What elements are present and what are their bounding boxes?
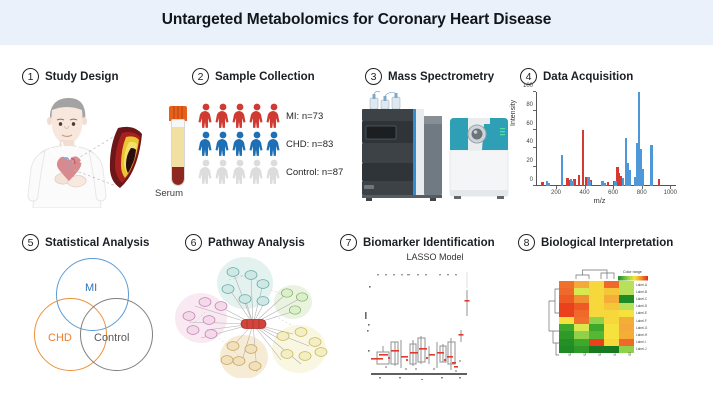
heatmap-row-label: Label-C <box>636 297 647 301</box>
heatmap-cell <box>559 339 574 346</box>
workflow-figure: Untargeted Metabolomics for Coronary Hea… <box>0 0 713 405</box>
x-tick-label: 200 <box>551 190 561 196</box>
heatmap-cell <box>574 339 589 346</box>
heatmap-cell <box>604 331 619 338</box>
lasso-plot-title: LASSO Model <box>355 252 515 262</box>
heatmap-cell <box>559 303 574 310</box>
tube-body <box>171 119 185 186</box>
x-tick-label: 1000 <box>664 190 677 196</box>
heatmap-cell <box>589 281 604 288</box>
y-axis-line <box>536 92 537 186</box>
panel-label-2: Sample Collection <box>215 71 315 83</box>
heatmap-row-label: Label-I <box>636 340 646 344</box>
heatmap-cell <box>559 281 574 288</box>
heatmap-cell <box>619 295 634 302</box>
y-axis-label: Intensity <box>510 100 517 126</box>
heatmap-cell <box>589 288 604 295</box>
cohort-row-chd: CHD: n=83 <box>198 128 343 156</box>
column-dendrogram <box>576 270 614 279</box>
panel-number-2: 2 <box>192 68 209 85</box>
cohort-label-control: Control: n=87 <box>286 167 343 178</box>
panel-header-5: 5 Statistical Analysis <box>22 234 149 251</box>
heatmap-cell <box>574 317 589 324</box>
serum-layer <box>172 127 184 167</box>
x-tick-label: 600 <box>608 190 618 196</box>
panel-header-6: 6 Pathway Analysis <box>185 234 305 251</box>
lasso-model-plot: LASSO Model <box>355 252 515 380</box>
y-tick-label: 80 <box>526 102 533 108</box>
tube-label: Serum <box>155 188 183 199</box>
sample-collection-illustration: Serum MI: n=73 CHD: n=83 <box>160 92 360 207</box>
heatmap-cell <box>604 295 619 302</box>
person-icon <box>266 131 282 156</box>
y-tick-label: 40 <box>526 139 533 145</box>
person-icon <box>249 159 265 184</box>
spectrum-peak <box>603 183 605 186</box>
panel-label-1: Study Design <box>45 71 118 83</box>
row-dendrogram <box>549 289 559 355</box>
x-tick-mark <box>556 186 557 189</box>
heatmap-col-label: S4 <box>613 352 617 356</box>
x-tick-mark <box>585 186 586 189</box>
y-tick-mark <box>533 166 536 167</box>
person-icon <box>266 103 282 128</box>
heatmap-cell <box>574 324 589 331</box>
heatmap-row-label: Label-A <box>636 283 647 287</box>
heatmap-row-label: Label-H <box>636 333 647 337</box>
heatmap-cell <box>574 281 589 288</box>
heatmap-cell <box>604 317 619 324</box>
spectrum-peak <box>650 145 652 186</box>
panel-header-7: 7 Biomarker Identification <box>340 234 495 251</box>
panel-number-1: 1 <box>22 68 39 85</box>
heatmap-cell <box>619 310 634 317</box>
page-title: Untargeted Metabolomics for Coronary Hea… <box>0 11 713 29</box>
person-icon <box>266 159 282 184</box>
person-icon <box>232 131 248 156</box>
venn-label-mi: MI <box>85 282 97 294</box>
title-banner: Untargeted Metabolomics for Coronary Hea… <box>0 0 713 45</box>
heatmap-cell <box>619 303 634 310</box>
panel-label-3: Mass Spectrometry <box>388 71 494 83</box>
x-tick-mark <box>613 186 614 189</box>
spectrum-peak <box>658 179 660 186</box>
heatmap-cell <box>604 339 619 346</box>
x-tick-label: 400 <box>580 190 590 196</box>
heatmap-cell <box>559 310 574 317</box>
heatmap-row-label: Label-G <box>636 326 647 330</box>
cohort-row-mi: MI: n=73 <box>198 100 343 128</box>
heatmap-cell <box>604 310 619 317</box>
heatmap-cell <box>619 324 634 331</box>
y-tick-label: 60 <box>526 121 533 127</box>
panel-number-7: 7 <box>340 234 357 251</box>
heatmap-cell <box>574 288 589 295</box>
spectrum-peak <box>642 169 644 186</box>
color-range-legend-title: Color range <box>623 270 642 274</box>
heatmap-cell <box>589 303 604 310</box>
heatmap-cell <box>604 281 619 288</box>
heatmap-col-label: S3 <box>598 352 602 356</box>
person-icon <box>215 159 231 184</box>
spectrum-peak <box>607 182 609 186</box>
spectrum-peak <box>572 181 574 186</box>
heatmap-cell <box>589 310 604 317</box>
heatmap-cell <box>559 324 574 331</box>
y-tick-mark <box>533 110 536 111</box>
pathway-network <box>175 256 335 378</box>
heatmap-cell <box>589 317 604 324</box>
x-tick-label: 800 <box>637 190 647 196</box>
spectrum-peak <box>561 155 563 186</box>
heatmap-figure: Color range Label-ALabel-BLabel-CLabel-D… <box>515 255 710 383</box>
serum-tube-icon <box>168 106 188 186</box>
y-tick-mark <box>533 91 536 92</box>
lasso-forest-plot-graphic <box>355 268 515 380</box>
lc-ms-instrument-graphic <box>350 90 510 210</box>
x-tick-mark <box>642 186 643 189</box>
spectrum-peak <box>578 175 580 186</box>
heatmap-cell <box>559 331 574 338</box>
venn-label-control: Control <box>94 332 129 344</box>
heatmap-cell <box>559 295 574 302</box>
spectrum-peak <box>614 181 616 186</box>
panel-number-5: 5 <box>22 234 39 251</box>
heatmap-cell <box>559 288 574 295</box>
heatmap-cell <box>574 331 589 338</box>
heatmap-cell <box>619 317 634 324</box>
heatmap-cell <box>619 288 634 295</box>
heatmap-cell <box>604 324 619 331</box>
heatmap-cell <box>574 295 589 302</box>
heatmap-cell <box>619 281 634 288</box>
person-icon <box>232 103 248 128</box>
panel-header-3: 3 Mass Spectrometry <box>365 68 494 85</box>
heatmap-cell <box>574 303 589 310</box>
spectrum-peak <box>582 130 584 186</box>
x-axis-label: m/z <box>512 196 687 205</box>
x-tick-mark <box>670 186 671 189</box>
person-icon <box>232 159 248 184</box>
panel-number-8: 8 <box>518 234 535 251</box>
person-icon <box>215 103 231 128</box>
heatmap-col-label: S5 <box>628 352 632 356</box>
panel-label-8: Biological Interpretation <box>541 237 673 249</box>
y-tick-label: 20 <box>526 158 533 164</box>
heatmap-row-label: Label-F <box>636 319 647 323</box>
panel-number-3: 3 <box>365 68 382 85</box>
panel-label-5: Statistical Analysis <box>45 237 149 249</box>
spectrum-peak <box>541 182 543 186</box>
cohort-label-chd: CHD: n=83 <box>286 139 333 150</box>
venn-diagram: MI CHD Control <box>30 256 180 378</box>
clot-layer <box>172 167 184 185</box>
venn-label-chd: CHD <box>48 332 72 344</box>
panel-header-8: 8 Biological Interpretation <box>518 234 673 251</box>
heatmap-cell <box>589 324 604 331</box>
heatmap-cell <box>604 303 619 310</box>
panel-header-1: 1 Study Design <box>22 68 118 85</box>
heatmap-cell <box>559 317 574 324</box>
heatmap-cell <box>589 339 604 346</box>
heatmap-cell <box>589 295 604 302</box>
heatmap-cell <box>619 339 634 346</box>
panel-header-2: 2 Sample Collection <box>192 68 315 85</box>
person-icon <box>249 131 265 156</box>
y-tick-label: 100 <box>523 83 533 89</box>
mass-spectrometry-illustration <box>350 90 510 208</box>
panel-label-6: Pathway Analysis <box>208 237 305 249</box>
cohort-row-control: Control: n=87 <box>198 156 343 184</box>
patient-heart-artery-graphic <box>12 90 162 208</box>
spectrum-peak <box>548 183 550 186</box>
heatmap-row-label: Label-B <box>636 290 647 294</box>
heatmap-row-label: Label-E <box>636 311 647 315</box>
panel-label-4: Data Acquisition <box>543 71 633 83</box>
panel-number-6: 6 <box>185 234 202 251</box>
y-tick-mark <box>533 185 536 186</box>
heatmap-cell <box>574 310 589 317</box>
heatmap-cell <box>619 331 634 338</box>
pathway-hub-node <box>241 320 266 329</box>
panel-header-4: 4 Data Acquisition <box>520 68 633 85</box>
heatmap-col-label: S1 <box>568 352 572 356</box>
heatmap-cell <box>589 331 604 338</box>
person-icon <box>198 159 214 184</box>
study-design-illustration <box>12 90 162 208</box>
person-icon <box>198 131 214 156</box>
cohort-label-mi: MI: n=73 <box>286 111 323 122</box>
y-tick-label: 0 <box>530 177 533 183</box>
mass-spectrum-chart: Intensity m/z 02040608010020040060080010… <box>512 88 687 208</box>
y-tick-mark <box>533 147 536 148</box>
heatmap-row-label: Label-D <box>636 304 647 308</box>
color-range-bar <box>618 276 648 281</box>
spectrum-peak <box>628 170 630 186</box>
person-icon <box>249 103 265 128</box>
spectrum-plot-area: 0204060801002004006008001000 <box>536 92 676 186</box>
heatmap-row-label: Label-J <box>636 347 646 351</box>
heatmap-cell <box>604 288 619 295</box>
panel-label-7: Biomarker Identification <box>363 237 495 249</box>
pathway-network-graphic <box>175 256 335 378</box>
y-tick-mark <box>533 129 536 130</box>
heatmap-col-label: S2 <box>583 352 587 356</box>
person-icon <box>198 103 214 128</box>
person-icon <box>215 131 231 156</box>
cohort-rows: MI: n=73 CHD: n=83 Control: n=87 <box>198 100 343 184</box>
spectrum-peak <box>589 181 591 186</box>
